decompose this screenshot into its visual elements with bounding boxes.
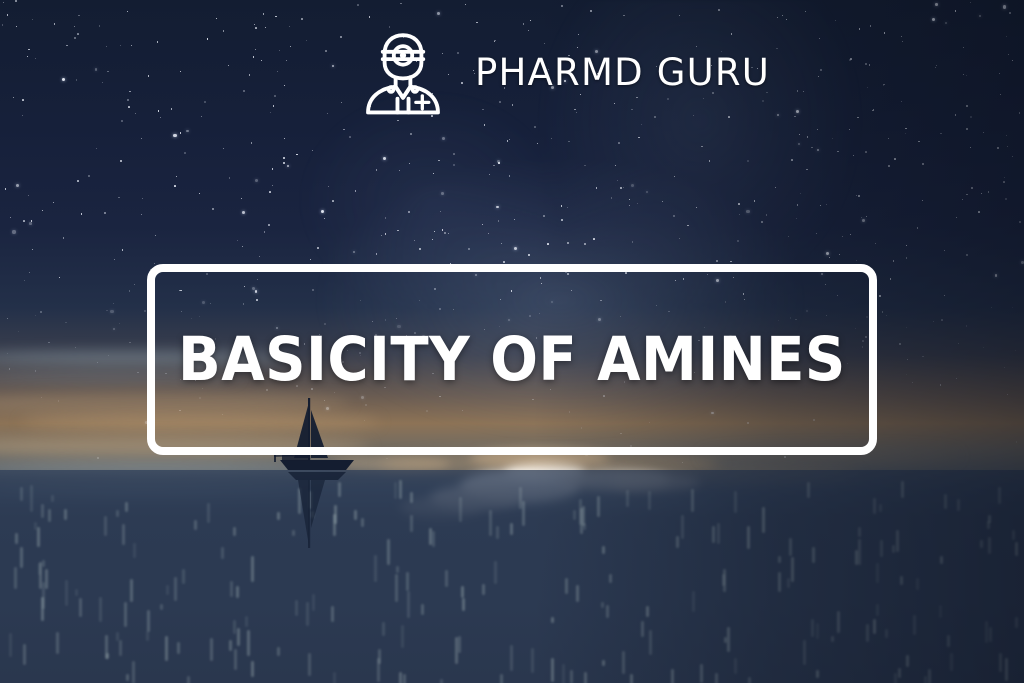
title-frame: BASICITY OF AMINES (147, 264, 877, 455)
title-slide: PHARMD GURU BASICITY OF AMINES (0, 0, 1024, 683)
page-title: BASICITY OF AMINES (178, 329, 846, 390)
brand-logo[interactable]: PHARMD GURU (357, 20, 770, 124)
brand-logo-text: PHARMD GURU (475, 54, 770, 91)
doctor-with-head-mirror-icon (357, 26, 449, 118)
